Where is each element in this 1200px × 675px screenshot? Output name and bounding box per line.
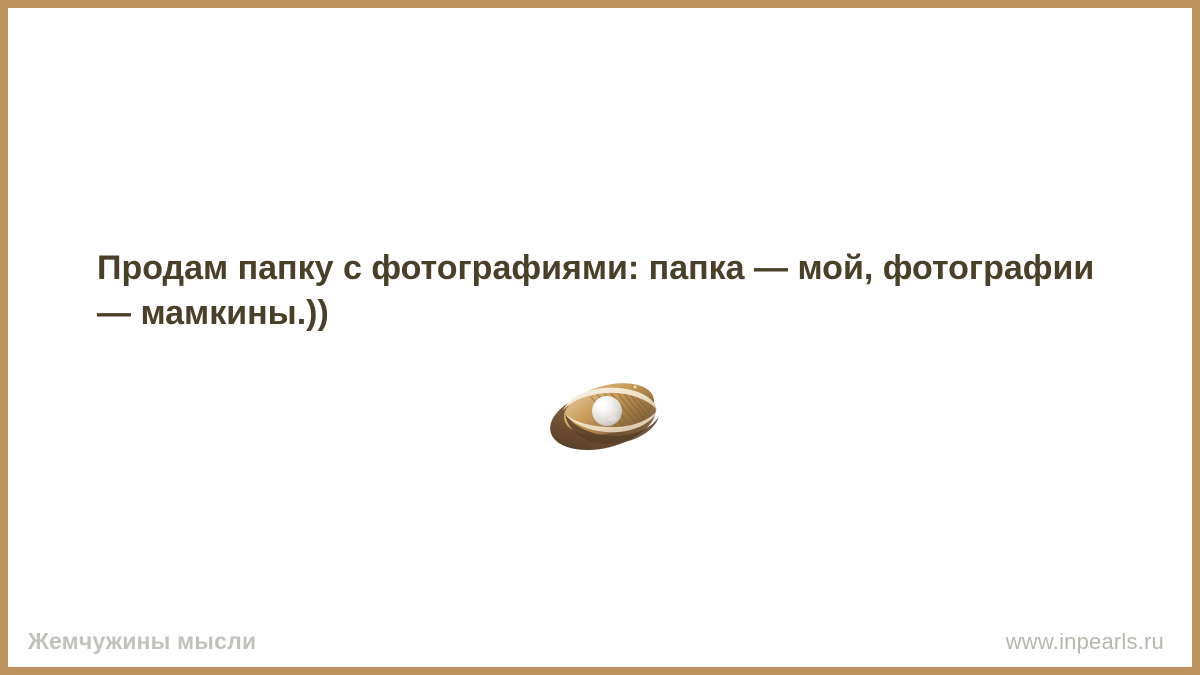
- footer-brand-label: Жемчужины мысли: [28, 628, 256, 655]
- quote-text: Продам папку с фотографиями: папка — мой…: [97, 246, 1127, 336]
- quote-card: Продам папку с фотографиями: папка — мой…: [0, 0, 1200, 675]
- footer-site-url[interactable]: www.inpearls.ru: [1006, 629, 1164, 655]
- oyster-shell-with-pearl-icon: [543, 381, 673, 453]
